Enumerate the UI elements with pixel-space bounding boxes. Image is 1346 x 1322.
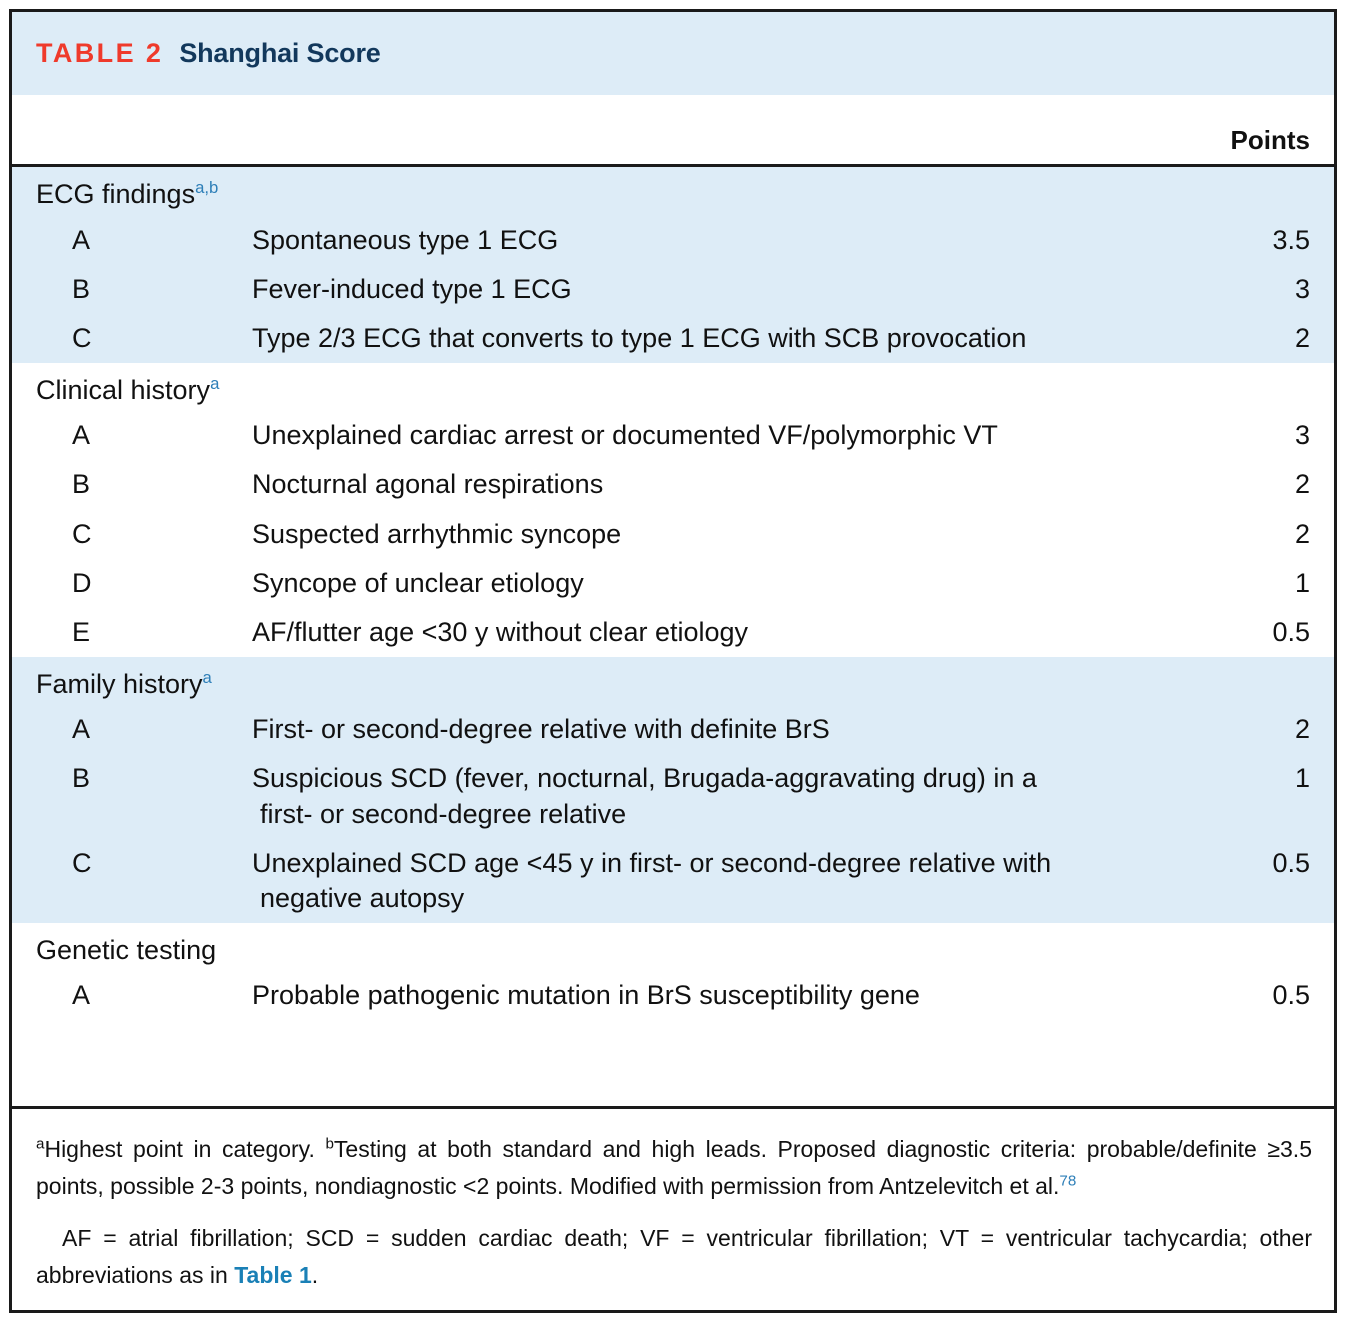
table-row: CType 2/3 ECG that converts to type 1 EC… [12,314,1334,363]
row-description-line1: Suspected arrhythmic syncope [252,519,621,549]
row-letter: C [12,846,252,881]
row-description: Suspected arrhythmic syncope [252,517,1192,552]
section-title: Family historya [12,657,1334,706]
column-header-points: Points [1231,125,1310,156]
row-description-line1: Nocturnal agonal respirations [252,469,603,499]
row-letter: A [12,712,252,747]
row-letter: B [12,272,252,307]
section-title: Clinical historya [12,363,1334,412]
row-points: 2 [1192,321,1334,356]
row-points: 1 [1192,566,1334,601]
row-letter: C [12,517,252,552]
table-row: BSuspicious SCD (fever, nocturnal, Bruga… [12,754,1334,838]
row-letter: D [12,566,252,601]
row-description: Type 2/3 ECG that converts to type 1 ECG… [252,321,1192,356]
row-points: 0.5 [1192,978,1334,1013]
row-description: Nocturnal agonal respirations [252,467,1192,502]
table-caption: TABLE 2 Shanghai Score [12,12,1334,95]
row-description: Unexplained cardiac arrest or documented… [252,418,1192,453]
row-description-line1: Unexplained cardiac arrest or documented… [252,420,998,450]
table-row: AUnexplained cardiac arrest or documente… [12,411,1334,460]
table-row: CSuspected arrhythmic syncope2 [12,510,1334,559]
row-description-line1: Probable pathogenic mutation in BrS susc… [252,980,920,1010]
row-description: Suspicious SCD (fever, nocturnal, Brugad… [252,761,1192,831]
section-title-footnote-marker[interactable]: a,b [195,178,218,197]
row-points: 3.5 [1192,223,1334,258]
abbreviations-text-end: . [312,1262,318,1288]
table-row: BNocturnal agonal respirations2 [12,460,1334,509]
page-title: Shanghai Score [179,38,380,69]
row-description-line1: Fever-induced type 1 ECG [252,274,572,304]
row-description: Unexplained SCD age <45 y in first- or s… [252,846,1192,916]
row-points: 2 [1192,467,1334,502]
table-screenshot: TABLE 2 Shanghai Score Points ECG findin… [0,0,1346,1322]
row-letter: E [12,615,252,650]
footnote-marker-b: b [325,1135,333,1152]
row-letter: A [12,418,252,453]
footnote-text-a: Highest point in category. [44,1136,325,1162]
footnote-abbreviations: AF = atrial fibrillation; SCD = sudden c… [36,1220,1312,1295]
row-points: 2 [1192,517,1334,552]
row-description: Fever-induced type 1 ECG [252,272,1192,307]
abbreviations-text: AF = atrial fibrillation; SCD = sudden c… [36,1225,1312,1288]
table-section: Genetic testingAProbable pathogenic muta… [12,923,1334,1021]
section-title-footnote-marker[interactable]: a [210,374,219,393]
section-title-label: Genetic testing [36,935,216,965]
table-row: EAF/flutter age <30 y without clear etio… [12,608,1334,657]
row-points: 0.5 [1192,615,1334,650]
row-points: 0.5 [1192,846,1334,881]
row-description-line2: first- or second-degree relative [252,797,1174,832]
row-points: 1 [1192,761,1334,796]
row-letter: B [12,467,252,502]
row-description: AF/flutter age <30 y without clear etiol… [252,615,1192,650]
row-description-line1: Suspicious SCD (fever, nocturnal, Brugad… [252,763,1037,793]
row-description-line1: Spontaneous type 1 ECG [252,225,558,255]
column-header-row: Points [12,95,1334,167]
row-description-line2: negative autopsy [252,881,1174,916]
section-title-label: Family history [36,669,203,699]
table-row: CUnexplained SCD age <45 y in first- or … [12,839,1334,923]
row-description: Spontaneous type 1 ECG [252,223,1192,258]
row-letter: B [12,761,252,796]
section-title: Genetic testing [12,923,1334,972]
row-description-line1: First- or second-degree relative with de… [252,714,830,744]
table-row: BFever-induced type 1 ECG3 [12,265,1334,314]
citation-reference-78[interactable]: 78 [1059,1173,1076,1190]
table-row: AProbable pathogenic mutation in BrS sus… [12,971,1334,1020]
row-letter: C [12,321,252,356]
row-description-line1: Type 2/3 ECG that converts to type 1 ECG… [252,323,1026,353]
table-frame: TABLE 2 Shanghai Score Points ECG findin… [9,9,1337,1313]
table-section: Clinical historyaAUnexplained cardiac ar… [12,363,1334,657]
row-points: 3 [1192,272,1334,307]
table-row: ASpontaneous type 1 ECG3.5 [12,216,1334,265]
table-row: AFirst- or second-degree relative with d… [12,705,1334,754]
section-title-footnote-marker[interactable]: a [203,668,212,687]
table-row: DSyncope of unclear etiology1 [12,559,1334,608]
row-description-line1: Unexplained SCD age <45 y in first- or s… [252,848,1051,878]
row-description-line1: Syncope of unclear etiology [252,568,584,598]
row-points: 2 [1192,712,1334,747]
row-description-line1: AF/flutter age <30 y without clear etiol… [252,617,748,647]
table-number-label: TABLE 2 [36,38,163,69]
row-description: First- or second-degree relative with de… [252,712,1192,747]
row-letter: A [12,978,252,1013]
section-title: ECG findingsa,b [12,167,1334,216]
row-points: 3 [1192,418,1334,453]
table-body: ECG findingsa,bASpontaneous type 1 ECG3.… [12,167,1334,1106]
table-section: ECG findingsa,bASpontaneous type 1 ECG3.… [12,167,1334,363]
table-1-link[interactable]: Table 1 [234,1262,312,1288]
footnotes-block: aHighest point in category. bTesting at … [12,1106,1334,1310]
row-description: Probable pathogenic mutation in BrS susc… [252,978,1192,1013]
table-section: Family historyaAFirst- or second-degree … [12,657,1334,923]
footnote-criteria: aHighest point in category. bTesting at … [36,1131,1312,1206]
section-title-label: Clinical history [36,375,210,405]
section-title-label: ECG findings [36,179,195,209]
row-description: Syncope of unclear etiology [252,566,1192,601]
row-letter: A [12,223,252,258]
